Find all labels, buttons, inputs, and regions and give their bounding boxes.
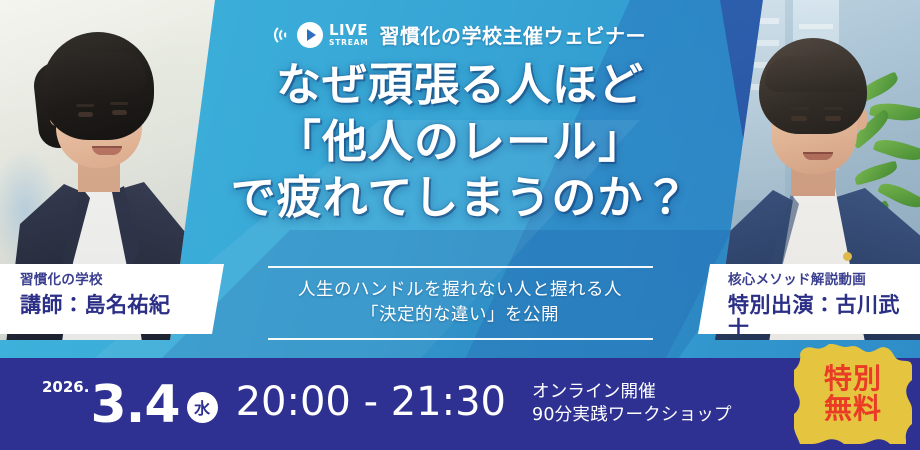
live-label: LIVE — [329, 23, 368, 38]
badge-line-1: 特別 — [824, 365, 882, 394]
play-icon — [297, 22, 323, 48]
speaker-right-name: 特別出演：古川武士 — [728, 293, 908, 341]
title-line-3: で疲れてしまうのか？ — [0, 170, 920, 227]
event-date: 2026. 3.4 水 — [42, 380, 218, 429]
speaker-left-name: 講師：島名祐紀 — [20, 293, 224, 317]
host-text: 習慣化の学校主催ウェビナー — [379, 20, 646, 49]
badge-line-2: 無料 — [824, 395, 882, 424]
speaker-right-caption: 核心メソッド解説動画 特別出演：古川武士 — [698, 264, 920, 334]
speaker-left-caption: 習慣化の学校 講師：島名祐紀 — [0, 264, 224, 334]
main-title: なぜ頑張る人ほど 「他人のレール」 で疲れてしまうのか？ — [0, 57, 920, 227]
speaker-right-role: 核心メソッド解説動画 — [728, 273, 908, 288]
speaker-left-role: 習慣化の学校 — [20, 273, 224, 288]
event-day: 3.4 — [90, 383, 179, 429]
signal-arcs-icon — [274, 22, 291, 48]
live-stream-header: LIVE STREAM 習慣化の学校主催ウェビナー — [0, 20, 920, 49]
webinar-banner: LIVE STREAM 習慣化の学校主催ウェビナー なぜ頑張る人ほど 「他人のレ… — [0, 0, 920, 450]
live-stream-label: LIVE STREAM — [329, 23, 368, 47]
divider-bottom — [268, 338, 653, 340]
title-line-1: なぜ頑張る人ほど — [0, 57, 920, 114]
free-badge: 特別 無料 — [794, 344, 912, 444]
stream-label: STREAM — [329, 39, 368, 47]
badge-text: 特別 無料 — [794, 344, 912, 444]
event-place: オンライン開催 90分実践ワークショップ — [532, 381, 732, 428]
event-place-line-2: 90分実践ワークショップ — [532, 404, 732, 427]
event-details-bar: 2026. 3.4 水 20:00 - 21:30 オンライン開催 90分実践ワ… — [0, 358, 920, 450]
divider-top — [268, 266, 653, 268]
event-day-of-week: 水 — [187, 392, 218, 423]
live-stream-badge: LIVE STREAM — [274, 22, 368, 48]
event-year: 2026. — [42, 380, 89, 395]
event-time: 20:00 - 21:30 — [236, 382, 506, 422]
title-line-2: 「他人のレール」 — [0, 114, 920, 171]
event-place-line-1: オンライン開催 — [532, 381, 732, 404]
